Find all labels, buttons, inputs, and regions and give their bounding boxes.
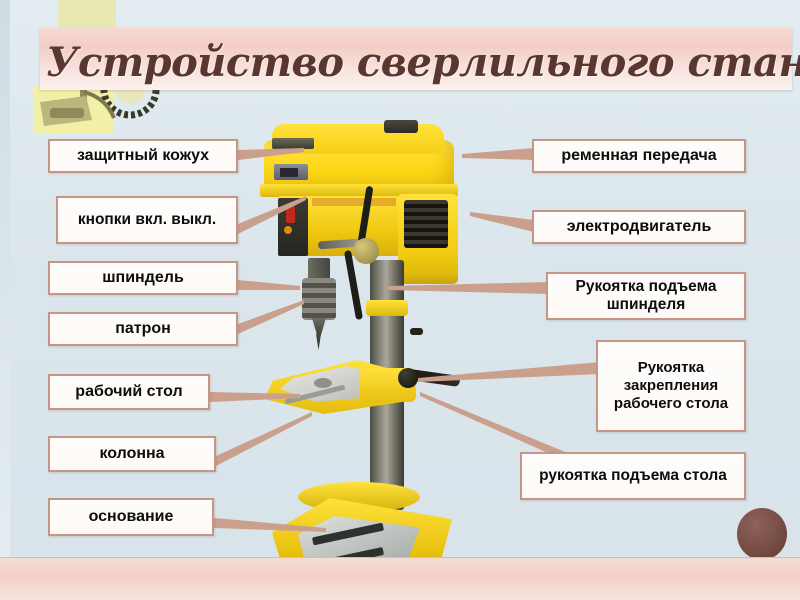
footer-band — [0, 557, 800, 600]
label-spindle-lift-handle[interactable]: Рукоятка подъема шпинделя — [546, 272, 746, 320]
label-table-lock-handle[interactable]: Рукоятка закрепления рабочего стола — [596, 340, 746, 432]
slide-canvas: Устройство сверлильного станка — [0, 0, 800, 600]
label-spindle[interactable]: шпиндель — [48, 261, 238, 295]
left-edge-strip — [0, 0, 10, 600]
page-title: Устройство сверлильного станка — [46, 36, 798, 90]
decorative-circle — [737, 508, 787, 560]
label-column[interactable]: колонна — [48, 436, 216, 472]
label-chuck[interactable]: патрон — [48, 312, 238, 346]
drill-press-image — [250, 110, 500, 570]
label-base[interactable]: основание — [48, 498, 214, 536]
label-electric-motor[interactable]: электродвигатель — [532, 210, 746, 244]
label-table-lift-handle[interactable]: рукоятка подъема стола — [520, 452, 746, 500]
label-work-table[interactable]: рабочий стол — [48, 374, 210, 410]
label-guard[interactable]: защитный кожух — [48, 139, 238, 173]
label-power-buttons[interactable]: кнопки вкл. выкл. — [56, 196, 238, 244]
label-belt-drive[interactable]: ременная передача — [532, 139, 746, 173]
